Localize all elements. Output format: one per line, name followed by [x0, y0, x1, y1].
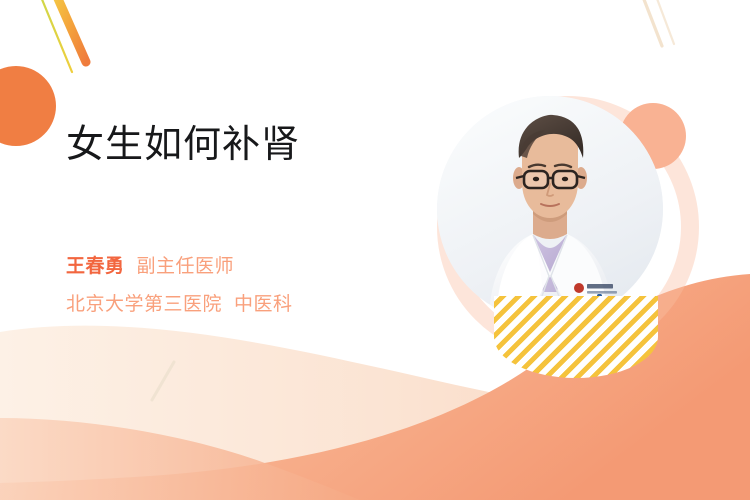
doctor-name-line: 王春勇副主任医师	[66, 248, 406, 286]
hospital-badge	[574, 283, 617, 294]
title-block: 女生如何补肾	[66, 120, 406, 170]
doctor-credentials: 王春勇副主任医师 北京大学第三医院中医科	[66, 248, 406, 324]
page-title: 女生如何补肾	[66, 120, 406, 170]
doctor-portrait	[437, 96, 663, 322]
doctor-department: 中医科	[234, 294, 293, 315]
diagonal-stroke-top-right	[618, 0, 728, 74]
diagonal-stroke-lower-left	[140, 358, 186, 408]
portrait-circle-mask	[437, 96, 663, 322]
poster-canvas: 女生如何补肾 王春勇副主任医师 北京大学第三医院中医科	[0, 0, 750, 500]
doctor-title: 副主任医师	[137, 256, 235, 277]
doctor-hospital: 北京大学第三医院	[66, 294, 222, 315]
striped-semicircle-decoration	[494, 296, 658, 378]
diagonal-stroke-top-left	[22, 0, 142, 84]
orange-circle-decoration	[0, 66, 56, 146]
doctor-name: 王春勇	[66, 256, 125, 277]
portrait-illustration	[437, 96, 663, 322]
wave-salmon-lobe	[0, 418, 360, 500]
doctor-affiliation-line: 北京大学第三医院中医科	[66, 286, 406, 324]
